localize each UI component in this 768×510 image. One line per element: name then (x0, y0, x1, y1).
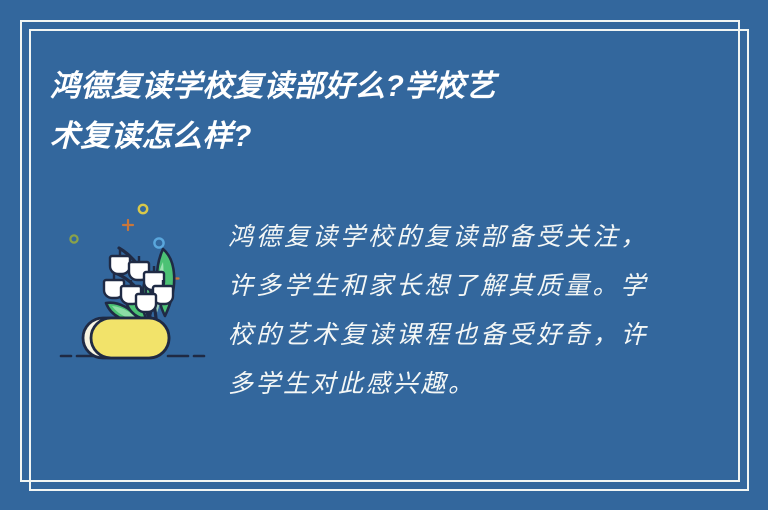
title-line-2: 术复读怎么样? (50, 112, 650, 162)
sparkle-circle-yellow (139, 205, 147, 213)
sparkle-plus-orange-top (123, 220, 133, 230)
flower-pot (83, 318, 169, 358)
sparkle-circle-blue (154, 238, 163, 247)
body-text-block: 鸿德复读学校的复读部备受关注，许多学生和家长想了解其质量。学校的艺术复读课程也备… (228, 212, 648, 408)
sparkle-circle-green (70, 235, 77, 242)
title-line-1: 鸿德复读学校复读部好么?学校艺 (50, 62, 650, 112)
poster-canvas: 鸿德复读学校复读部好么?学校艺 术复读怎么样? 鸿德复读学校的复读部备受关注，许… (0, 0, 768, 510)
illustration-lily-of-the-valley (55, 190, 220, 380)
pot-body (91, 318, 169, 358)
body-paragraph: 鸿德复读学校的复读部备受关注，许多学生和家长想了解其质量。学校的艺术复读课程也备… (228, 212, 648, 408)
page-title: 鸿德复读学校复读部好么?学校艺 术复读怎么样? (50, 62, 650, 162)
